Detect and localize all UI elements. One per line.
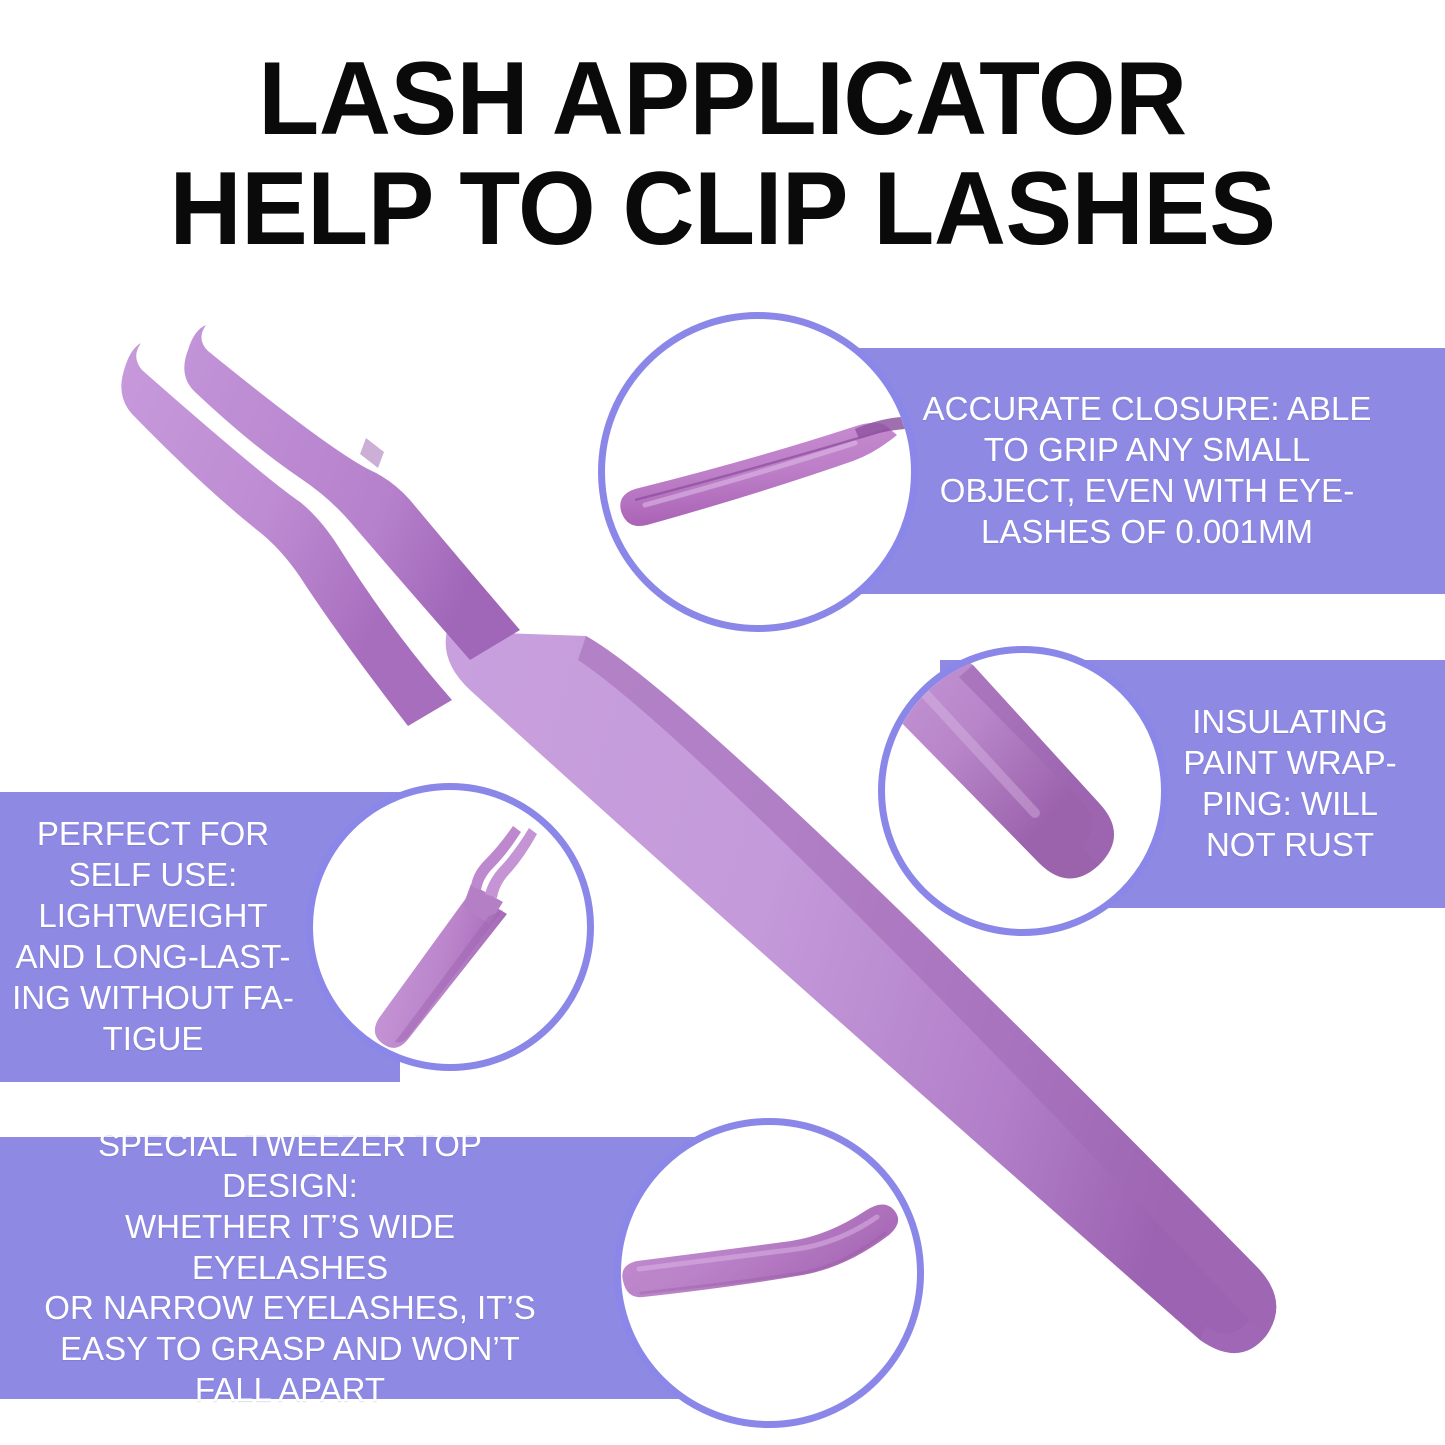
handle-body bbox=[885, 655, 1114, 878]
tweezer-tip-highlight bbox=[645, 443, 855, 505]
tweezer-prong-front bbox=[121, 343, 452, 726]
callout-text-self-use: PERFECT FOR SELF USE: LIGHTWEIGHT AND LO… bbox=[8, 814, 298, 1059]
full-tweezer-icon bbox=[313, 790, 587, 1064]
callout-circle-special-tweezer-top bbox=[614, 1118, 924, 1428]
infographic-page: LASH APPLICATOR HELP TO CLIP LASHES bbox=[0, 0, 1445, 1445]
handle-end-closeup-icon bbox=[885, 653, 1161, 929]
title-line-2: HELP TO CLIP LASHES bbox=[29, 154, 1416, 264]
title-line-1: LASH APPLICATOR bbox=[29, 44, 1416, 154]
tweezer-tip-closeup-icon bbox=[605, 319, 911, 625]
callout-circle-self-use bbox=[306, 783, 594, 1071]
curved-prong-closeup-icon bbox=[621, 1125, 917, 1421]
callout-text-accurate-closure: ACCURATE CLOSURE: ABLE TO GRIP ANY SMALL… bbox=[907, 389, 1387, 553]
tweezer-handle-tip bbox=[1200, 1320, 1266, 1353]
callout-circle-accurate-closure bbox=[598, 312, 918, 632]
page-title: LASH APPLICATOR HELP TO CLIP LASHES bbox=[0, 44, 1445, 264]
callout-banner-special-tweezer-top: SPECIAL TWEEZER TOP DESIGN: WHETHER IT’S… bbox=[0, 1137, 720, 1399]
callout-circle-insulating-paint bbox=[878, 646, 1168, 936]
tweezer-joint bbox=[360, 438, 384, 468]
callout-text-special-tweezer-top: SPECIAL TWEEZER TOP DESIGN: WHETHER IT’S… bbox=[30, 1125, 550, 1411]
tweezer-prong-back bbox=[184, 325, 520, 660]
callout-text-insulating-paint: INSULATING PAINT WRAP- PING: WILL NOT RU… bbox=[1165, 702, 1415, 866]
